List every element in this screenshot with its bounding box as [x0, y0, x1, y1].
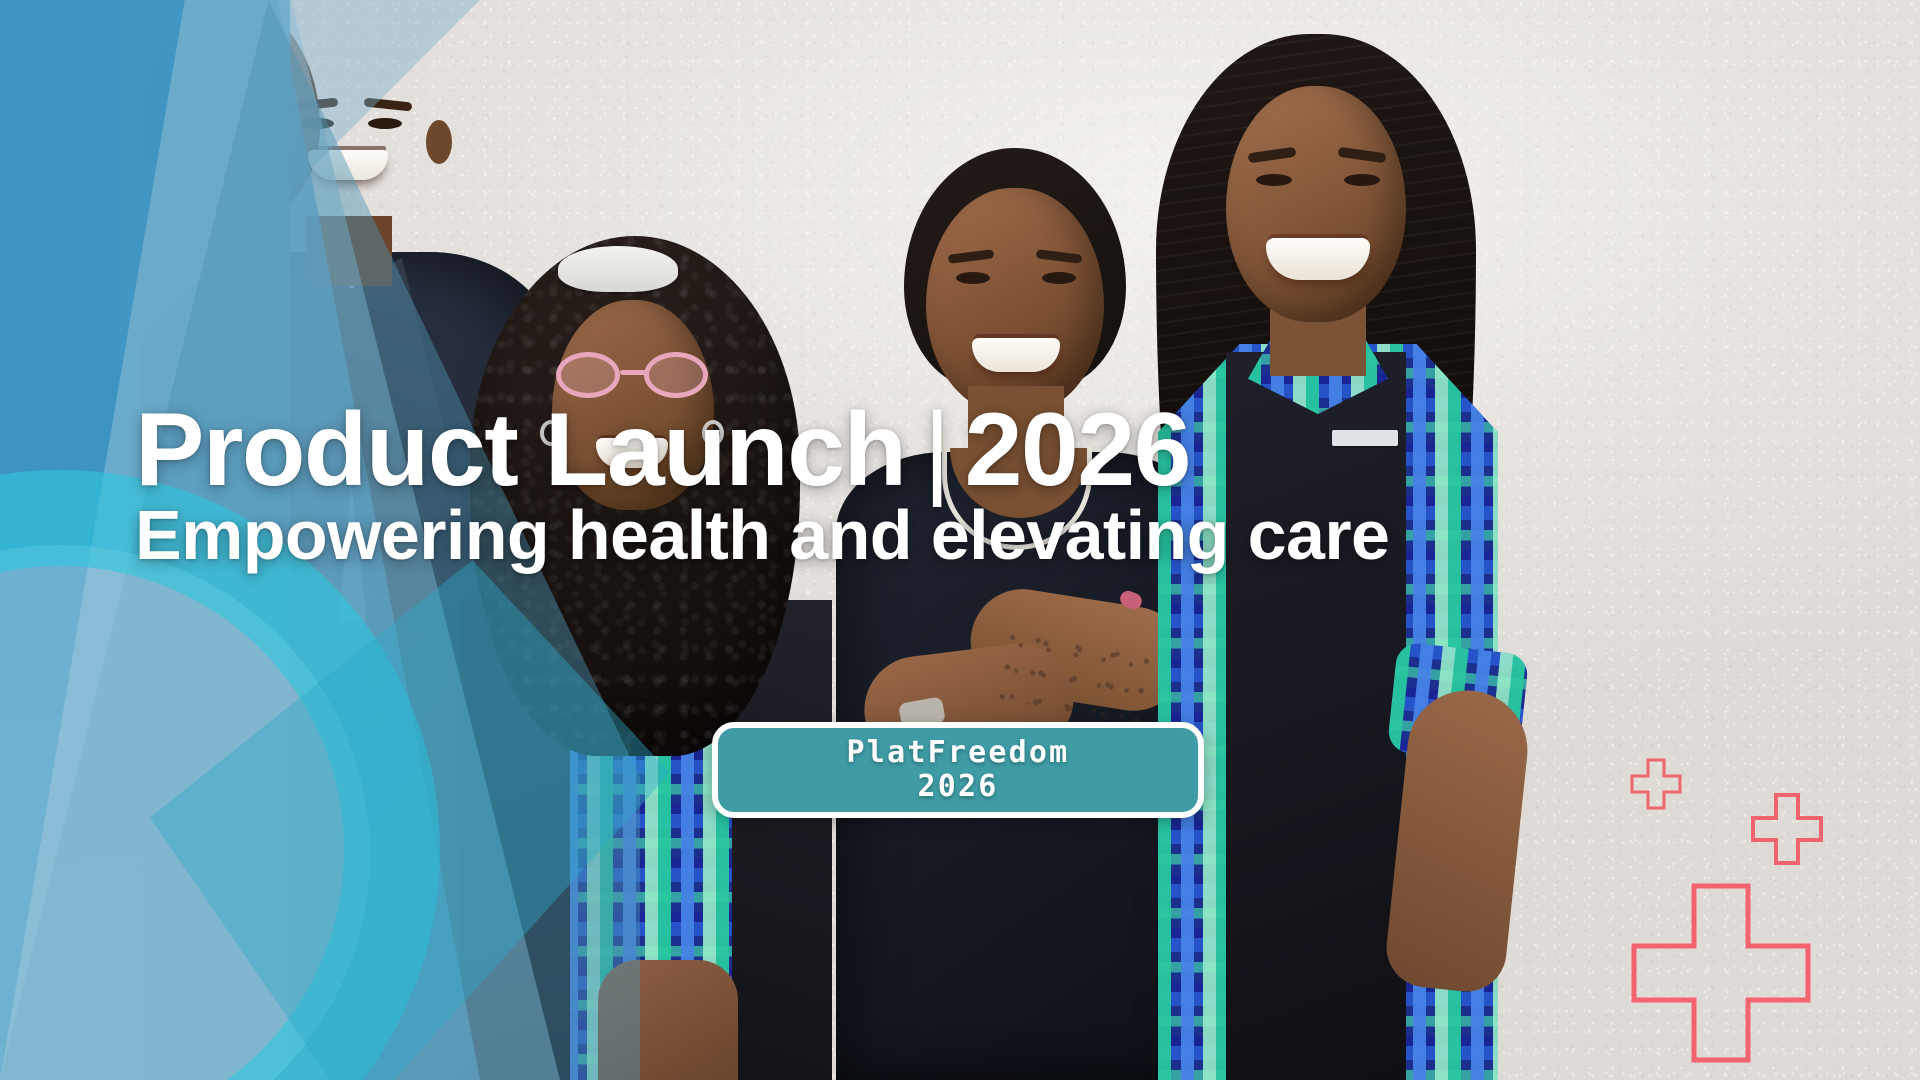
eyebrow-right [364, 98, 413, 112]
status-badge: PlatFreedom 2026 [712, 722, 1204, 818]
badge-line-1: PlatFreedom [847, 736, 1070, 770]
ear-right [426, 120, 452, 164]
smile [1266, 238, 1370, 280]
hair-scrunchie [558, 246, 678, 292]
smile [308, 150, 388, 180]
headline-separator: | [906, 392, 965, 508]
eye-left [956, 272, 990, 284]
neck [306, 216, 392, 286]
page-subtitle: Empowering health and elevating care [135, 500, 1389, 570]
ear-left [246, 120, 272, 164]
eye-right [368, 118, 402, 129]
eye-right [1344, 174, 1380, 186]
eye-left [300, 118, 334, 129]
head [140, 0, 320, 225]
headline-main: Product Launch [135, 392, 906, 508]
eye-left [1256, 174, 1292, 186]
name-badge [1332, 430, 1398, 446]
face [1226, 86, 1406, 322]
eye-right [1042, 272, 1076, 284]
clasped-hands [598, 960, 738, 1080]
badge-line-2: 2026 [917, 770, 998, 804]
face [926, 188, 1104, 414]
jacket-button-lower [364, 710, 380, 726]
smile [972, 338, 1060, 372]
page-title: Product Launch|2026 [135, 398, 1190, 502]
glasses-bridge [620, 370, 646, 375]
headline-year: 2026 [965, 392, 1190, 508]
product-launch-banner: Product Launch|2026 Empowering health an… [0, 0, 1920, 1080]
black-vest [1226, 352, 1406, 1080]
jacket-button-upper [365, 590, 381, 606]
